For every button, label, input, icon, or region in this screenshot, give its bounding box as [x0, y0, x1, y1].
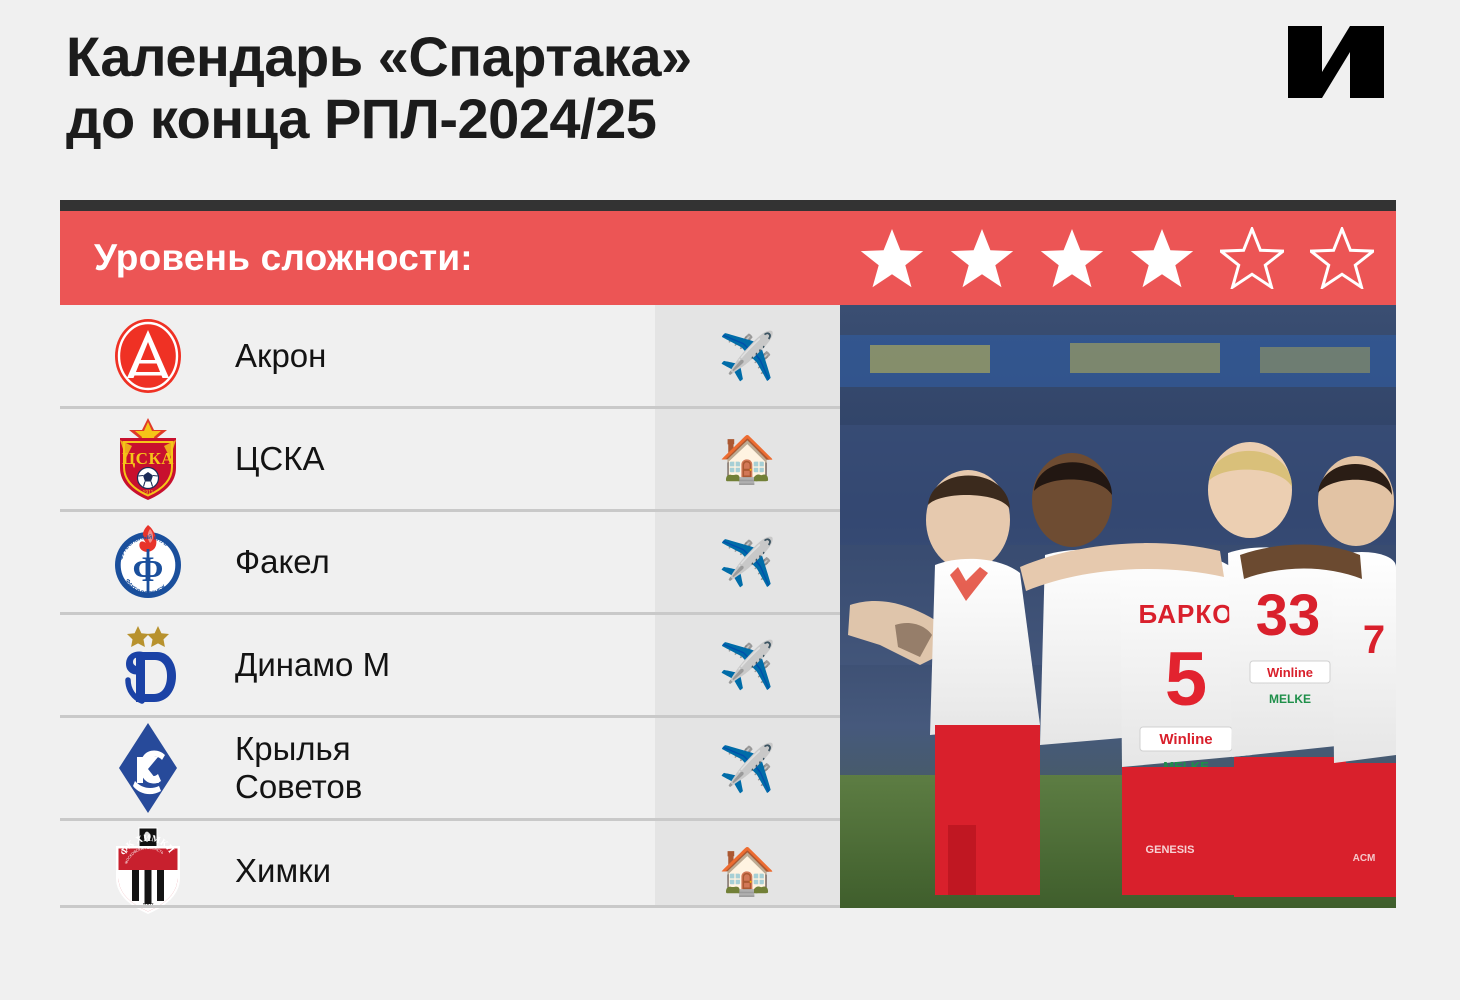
svg-text:ACM: ACM — [1353, 853, 1376, 864]
header-dark-strip — [60, 200, 1396, 211]
spartak-players-celebration-photo: БАРКО 5 Winline MELKE GENESIS 33 Winline… — [840, 305, 1396, 908]
table-row[interactable]: Ф ФУТБОЛЬНЫЙ КЛУБ ФАКЕЛ ВОРОНЕЖ Факел ✈️ — [60, 512, 840, 612]
airplane-icon: ✈️ — [655, 718, 840, 818]
krylia-logo — [60, 718, 235, 818]
svg-text:Winline: Winline — [1267, 665, 1313, 680]
airplane-icon: ✈️ — [655, 306, 840, 406]
star-filled-icon — [1130, 227, 1194, 289]
team-name: ЦСКА — [235, 409, 655, 509]
team-name: Крылья Советов — [235, 718, 655, 818]
svg-text:5: 5 — [1165, 637, 1207, 722]
table-row[interactable]: Динамо М ✈️ — [60, 615, 840, 715]
table-row[interactable]: Крылья Советов ✈️ — [60, 718, 840, 818]
dinamo-logo — [60, 615, 235, 715]
team-name: Акрон — [235, 306, 655, 406]
publisher-logo — [1288, 26, 1384, 98]
akron-logo — [60, 306, 235, 406]
star-outline-icon — [1310, 227, 1374, 289]
team-name: Динамо М — [235, 615, 655, 715]
house-icon: 🏠 — [655, 409, 840, 509]
svg-text:MELKE: MELKE — [1269, 692, 1311, 706]
difficulty-stars — [860, 211, 1374, 305]
star-outline-icon — [1220, 227, 1284, 289]
header: Календарь «Спартака» до конца РПЛ-2024/2… — [0, 0, 1460, 190]
svg-text:Winline: Winline — [1159, 731, 1212, 748]
airplane-icon: ✈️ — [655, 615, 840, 715]
star-filled-icon — [1040, 227, 1104, 289]
fakel-logo: Ф ФУТБОЛЬНЫЙ КЛУБ ФАКЕЛ ВОРОНЕЖ — [60, 512, 235, 612]
svg-text:GENESIS: GENESIS — [1146, 844, 1195, 856]
cska-logo: ЦСКА 1911 — [60, 409, 235, 509]
table-row[interactable]: ЦСКА 1911 ЦСКА 🏠 — [60, 409, 840, 509]
svg-text:7: 7 — [1363, 618, 1385, 662]
page-title: Календарь «Спартака» до конца РПЛ-2024/2… — [66, 26, 966, 150]
airplane-icon: ✈️ — [655, 512, 840, 612]
svg-text:33: 33 — [1256, 583, 1321, 648]
difficulty-label: Уровень сложности: — [94, 211, 473, 305]
star-filled-icon — [860, 227, 924, 289]
difficulty-bar: Уровень сложности: — [60, 211, 1396, 305]
svg-text:ЦСКА: ЦСКА — [121, 449, 173, 468]
star-filled-icon — [950, 227, 1014, 289]
svg-text:БАРКО: БАРКО — [1139, 599, 1234, 629]
team-name: Факел — [235, 512, 655, 612]
table-row[interactable]: Акрон ✈️ — [60, 306, 840, 406]
svg-text:1911: 1911 — [142, 490, 153, 496]
row-divider — [60, 905, 840, 908]
